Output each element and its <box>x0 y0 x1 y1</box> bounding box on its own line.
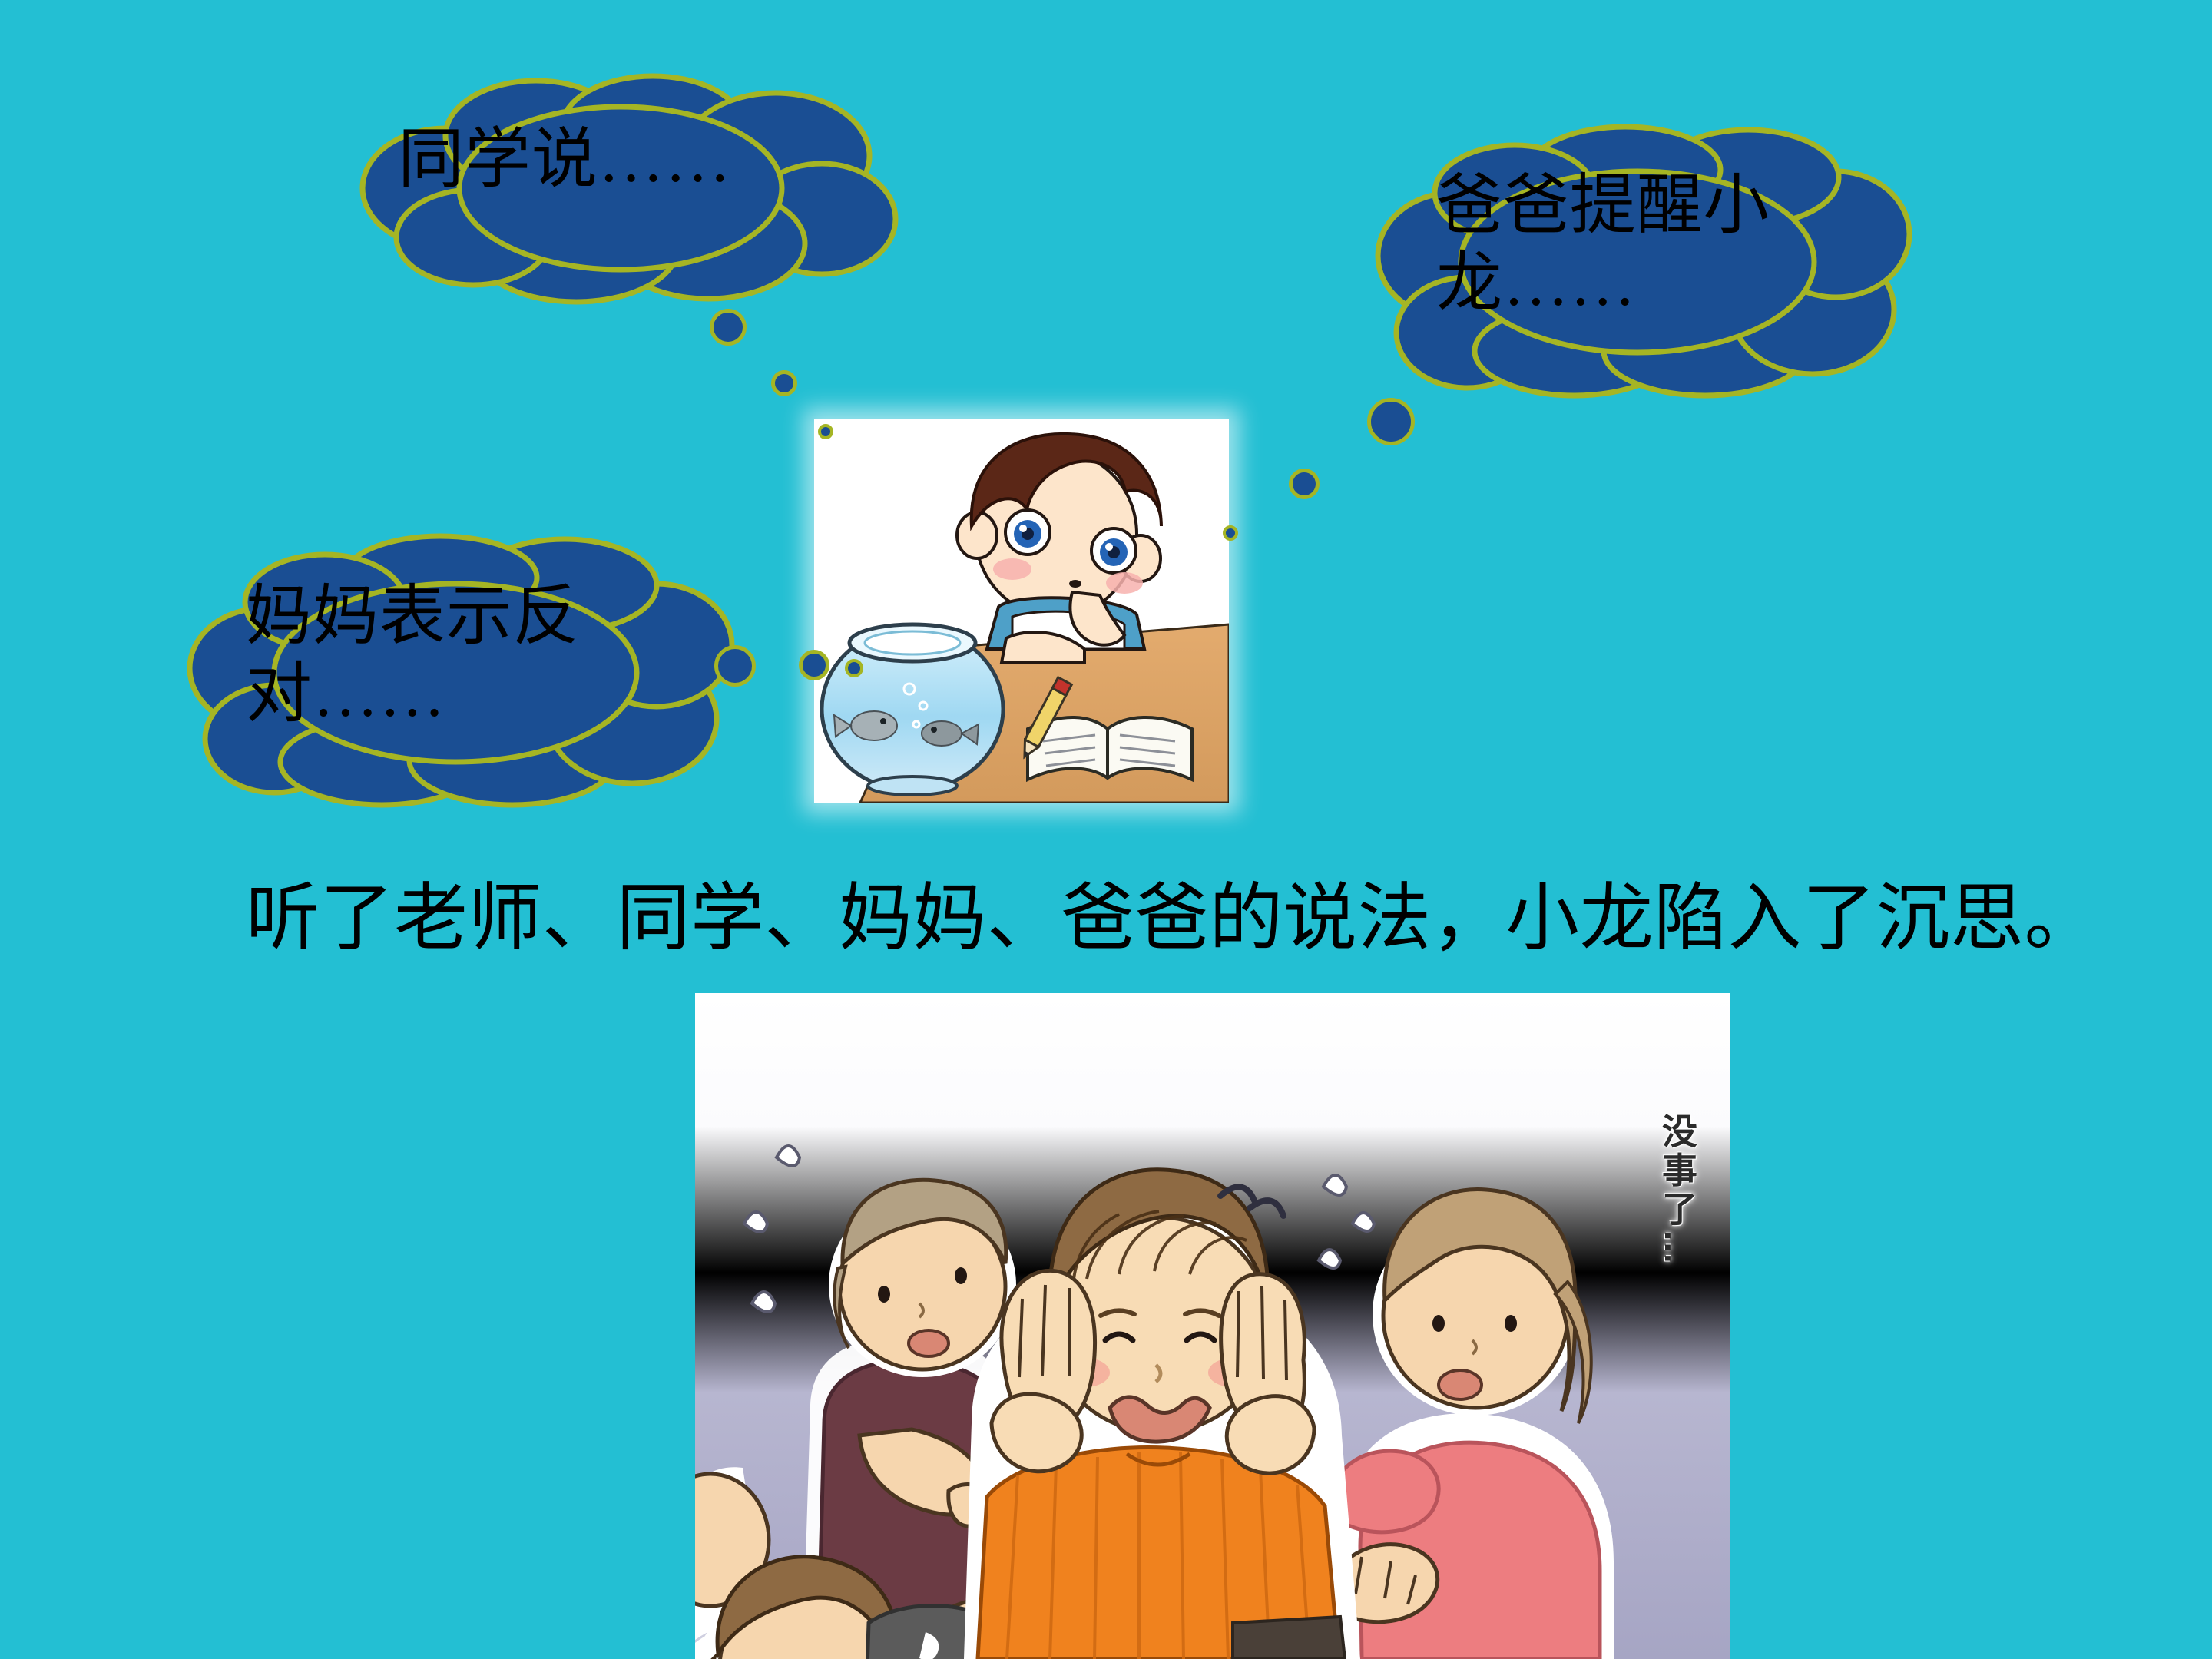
boy-covering-ears-artwork <box>695 993 1730 1659</box>
thought-dot-father-3 <box>1223 525 1238 541</box>
boy-fishbowl-artwork <box>814 419 1229 803</box>
thought-dot-mother-2 <box>799 650 829 680</box>
picture-vertical-label: 没事了… <box>1652 1113 1703 1268</box>
thought-cloud-father: 爸爸提醒小龙…… <box>1352 127 1920 392</box>
thought-dot-classmate-1 <box>710 309 747 346</box>
picture-canvas <box>814 419 1229 803</box>
thought-dot-mother-1 <box>714 645 756 687</box>
illustration-boy-thinking-with-fishbowl <box>814 419 1229 803</box>
cloud-text-father: 爸爸提醒小龙…… <box>1436 167 1882 323</box>
thought-dot-father-1 <box>1367 398 1415 445</box>
thought-cloud-mother: 妈妈表示反对…… <box>165 538 749 803</box>
thought-dot-classmate-3 <box>818 424 833 439</box>
thought-dot-mother-3 <box>845 659 863 677</box>
thought-cloud-classmate: 同学说…… <box>330 73 914 296</box>
body-paragraph: 听了老师、同学、妈妈、爸爸的说法，小龙陷入了沉思。 <box>100 872 2174 966</box>
cloud-text-mother: 妈妈表示反对…… <box>246 578 707 733</box>
presentation-slide: 同学说…… 爸爸提醒小龙…… <box>0 0 2212 1659</box>
cloud-text-classmate: 同学说…… <box>398 121 889 198</box>
illustration-boy-covering-ears: 没事了… <box>695 993 1730 1659</box>
thought-dot-father-2 <box>1289 469 1320 499</box>
thought-dot-classmate-2 <box>771 370 797 396</box>
